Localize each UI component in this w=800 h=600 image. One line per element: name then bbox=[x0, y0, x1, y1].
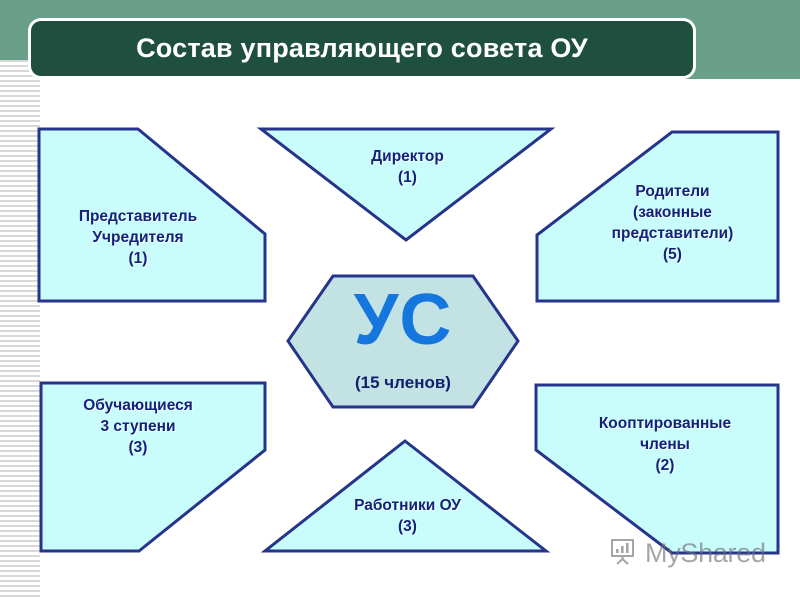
label-parents: Родители (законные представители) (5) bbox=[560, 182, 785, 266]
slide-canvas: Состав управляющего совета ОУ Директор (… bbox=[0, 0, 800, 600]
presentation-chart-icon bbox=[608, 536, 638, 571]
label-staff: Работники ОУ (3) bbox=[300, 496, 515, 538]
watermark-text: MyShared bbox=[645, 538, 766, 569]
label-students: Обучающиеся 3 ступени (3) bbox=[38, 396, 238, 459]
myshared-watermark: MyShared bbox=[608, 536, 766, 571]
label-founder-representative: Представитель Учредителя (1) bbox=[38, 207, 238, 270]
label-coopted-members: Кооптированные члены (2) bbox=[545, 414, 785, 477]
center-abbreviation: УС bbox=[288, 286, 518, 354]
label-director: Директор (1) bbox=[300, 147, 515, 189]
center-member-count: (15 членов) bbox=[288, 373, 518, 393]
